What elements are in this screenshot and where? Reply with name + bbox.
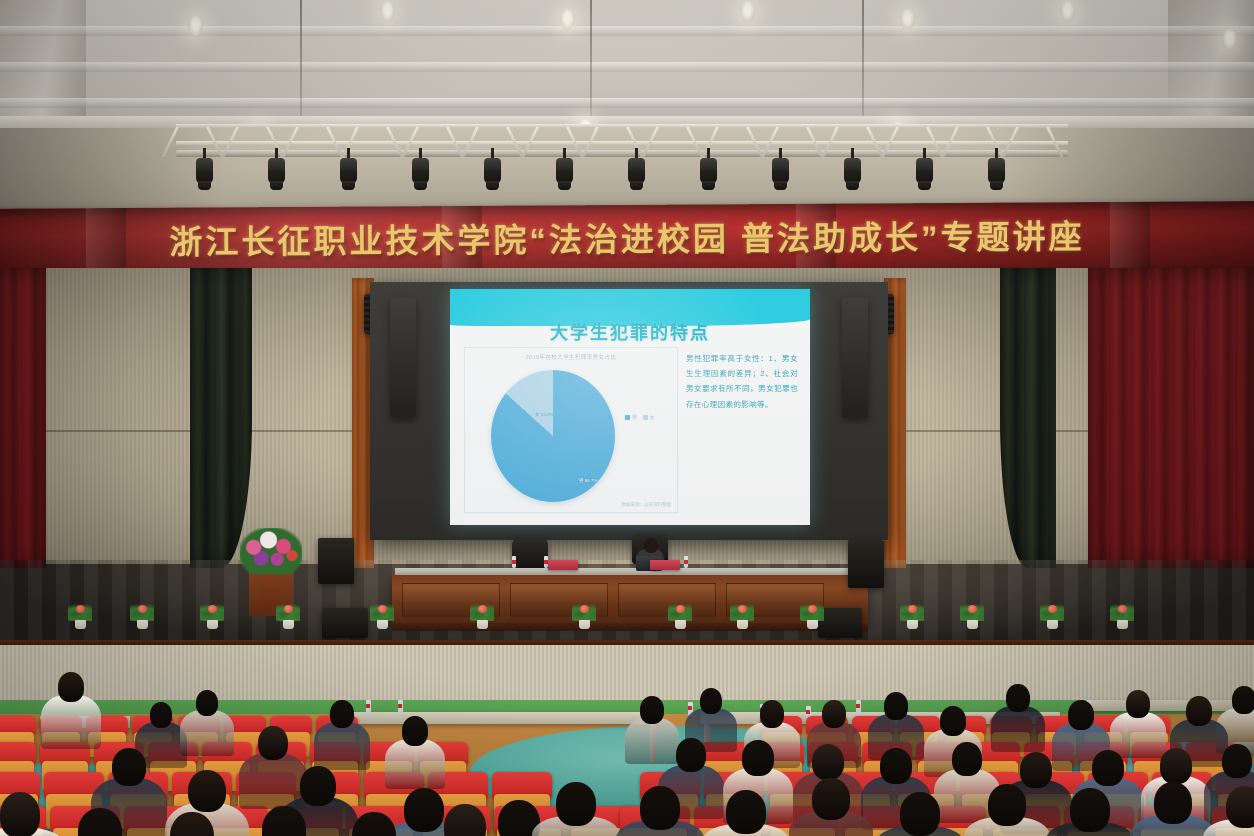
spotlight-10 — [844, 154, 861, 194]
side-speaker-right — [848, 540, 884, 588]
side-speaker-left — [318, 538, 354, 584]
spotlight-3 — [340, 154, 357, 194]
slide-header-bar — [450, 289, 810, 315]
water-bottle-stage-1 — [512, 556, 516, 568]
stage-plant-9 — [730, 604, 756, 638]
lecture-hall-photo: 浙江长征职业技术学院“法治进校园 普法助成长”专题讲座 大学生犯罪的特点 201… — [0, 0, 1254, 836]
ceiling-band-2 — [0, 62, 1254, 72]
chart-source: 数据来源：公开资料整理 — [622, 502, 672, 508]
legend-item-female: 女 — [643, 415, 655, 421]
spotlight-1 — [196, 154, 213, 194]
stage-plant-13 — [1040, 604, 1066, 638]
stage-plant-10 — [800, 604, 826, 638]
stage-plant-8 — [668, 604, 694, 638]
pie-label-female: 女 13.3% — [535, 412, 554, 418]
spotlight-8 — [700, 154, 717, 194]
chart-caption: 2019年在校大学生犯罪率男女占比 — [465, 353, 677, 361]
stage-front-panel — [0, 645, 1254, 703]
ceiling-seam-2 — [590, 0, 592, 132]
water-bottle-1 — [366, 700, 371, 714]
spotlight-7 — [628, 154, 645, 194]
water-bottle-7 — [856, 700, 861, 714]
flower-bouquet — [240, 528, 302, 574]
event-banner: 浙江长征职业技术学院“法治进校园 普法助成长”专题讲座 — [0, 201, 1254, 277]
stage-plant-11 — [900, 604, 926, 638]
slide-body-text: 男性犯罪率高于女性：1、男女生生理因素的差异；2、社会对男女要求有所不同，男女犯… — [686, 351, 798, 412]
spotlight-9 — [772, 154, 789, 194]
stage-plant-1 — [68, 604, 94, 638]
spotlight-11 — [916, 154, 933, 194]
legend-item-male: 男 — [625, 415, 637, 421]
pie-chart: 2019年在校大学生犯罪率男女占比 女 13.3% 男 86.7% 男 女 数据… — [464, 347, 678, 513]
stage-plant-7 — [572, 604, 598, 638]
stage-plant-6 — [470, 604, 496, 638]
stage-table-base — [392, 623, 868, 631]
audience-desk-1 — [330, 712, 660, 724]
curtain-red-right — [1088, 268, 1254, 568]
ceiling-downlight-10 — [740, 0, 755, 22]
ceiling-downlight-6 — [380, 0, 395, 22]
stage-monitor-left — [322, 608, 368, 638]
projection-screen: 大学生犯罪的特点 2019年在校大学生犯罪率男女占比 女 13.3% 男 86.… — [370, 282, 888, 540]
spotlight-5 — [484, 154, 501, 194]
stage-plant-5 — [370, 604, 396, 638]
water-bottle-stage-3 — [684, 556, 688, 568]
pie-graphic: 女 13.3% 男 86.7% — [491, 370, 615, 502]
screen-speaker-right — [842, 298, 868, 418]
name-placard-1 — [548, 560, 578, 570]
stage-plant-12 — [960, 604, 986, 638]
ceiling-downlight-7 — [560, 8, 575, 30]
pie-label-male: 男 86.7% — [579, 478, 598, 484]
screen-speaker-left — [390, 298, 416, 418]
stage-table — [392, 575, 868, 623]
ceiling-downlight-3 — [188, 15, 203, 37]
ceiling-downlight-11 — [900, 8, 915, 30]
ceiling-downlight-15 — [1222, 28, 1237, 50]
ceiling-downlight-14 — [1060, 0, 1075, 22]
empty-chair — [512, 538, 548, 568]
water-bottle-2 — [398, 700, 403, 714]
spotlight-6 — [556, 154, 573, 194]
curtain-dark-left — [190, 268, 252, 568]
stage-plant-4 — [276, 604, 302, 638]
chart-legend: 男 女 — [625, 414, 655, 421]
stage-plant-2 — [130, 604, 156, 638]
spotlight-12 — [988, 154, 1005, 194]
presentation-slide: 大学生犯罪的特点 2019年在校大学生犯罪率男女占比 女 13.3% 男 86.… — [450, 289, 810, 525]
speaker-head — [644, 538, 658, 553]
name-placard-2 — [650, 560, 680, 570]
banner-title: 浙江长征职业技术学院“法治进校园 普法助成长”专题讲座 — [0, 209, 1254, 265]
spotlight-2 — [268, 154, 285, 194]
stage-plant-3 — [200, 604, 226, 638]
ceiling-seam-3 — [862, 0, 864, 132]
curtain-dark-right — [1000, 268, 1056, 568]
curtain-red-left — [0, 268, 46, 568]
ceiling-seam-1 — [300, 0, 302, 132]
stage-plant-14 — [1110, 604, 1136, 638]
slide-title: 大学生犯罪的特点 — [450, 319, 810, 345]
lighting-truss — [176, 124, 1068, 158]
ceiling-band-3 — [0, 98, 1254, 108]
spotlight-4 — [412, 154, 429, 194]
